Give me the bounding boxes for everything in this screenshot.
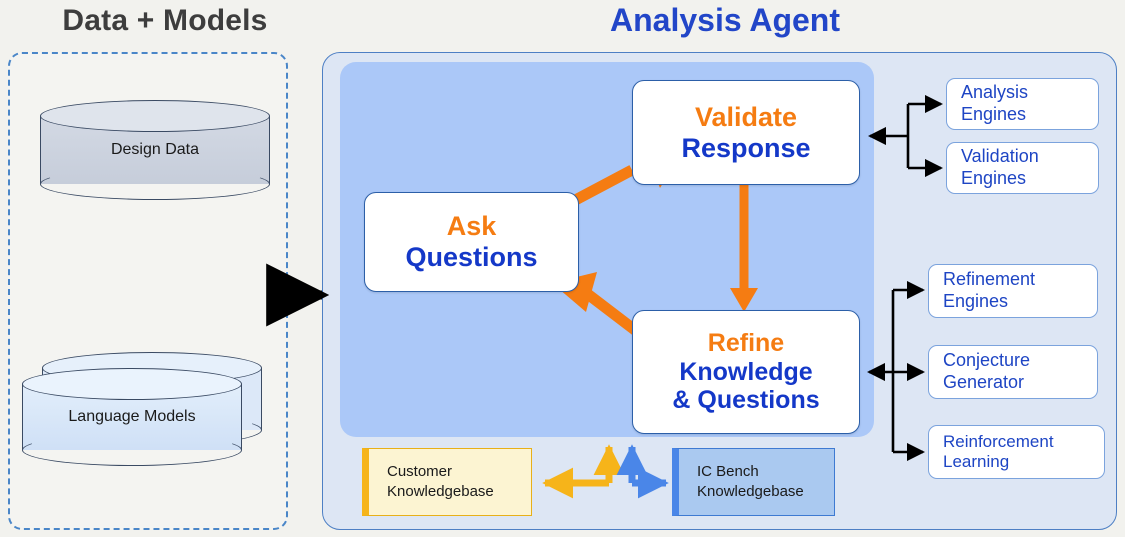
analysis-agent-title: Analysis Agent [330, 2, 1120, 39]
validation-engines-line1: Validation [961, 146, 1098, 168]
reinforcement-learning-line2: Learning [943, 452, 1104, 472]
icbench-knowledgebase-box[interactable]: IC Bench Knowledgebase [672, 448, 835, 516]
reinforcement-learning-box[interactable]: Reinforcement Learning [928, 425, 1105, 479]
cylinder-top [22, 368, 242, 400]
refine-line3: & Questions [672, 386, 819, 415]
language-models-cylinder: Language Models [22, 368, 242, 466]
conjecture-generator-line2: Generator [943, 372, 1097, 394]
customer-kb-line2: Knowledgebase [387, 482, 531, 502]
validation-engines-line2: Engines [961, 168, 1098, 190]
refine-line1: Refine [708, 329, 784, 358]
design-data-cylinder: Design Data [40, 100, 270, 200]
cylinder-bottom [22, 434, 242, 466]
diagram-canvas: Data + Models Design Data Language Model… [0, 0, 1125, 537]
language-models-label: Language Models [22, 408, 242, 426]
icbench-kb-line1: IC Bench [697, 462, 834, 482]
refine-line2: Knowledge [679, 358, 812, 387]
ask-questions-box[interactable]: Ask Questions [364, 192, 579, 292]
analysis-engines-line2: Engines [961, 104, 1098, 126]
ask-questions-line1: Ask [447, 211, 497, 242]
refinement-engines-line2: Engines [943, 291, 1097, 313]
refinement-engines-line1: Refinement [943, 269, 1097, 291]
icbench-kb-line2: Knowledgebase [697, 482, 834, 502]
cylinder-top [40, 100, 270, 132]
analysis-engines-line1: Analysis [961, 82, 1098, 104]
validate-response-box[interactable]: Validate Response [632, 80, 860, 185]
refinement-engines-box[interactable]: Refinement Engines [928, 264, 1098, 318]
validate-response-line2: Response [681, 133, 810, 164]
data-models-title: Data + Models [20, 4, 310, 38]
refine-knowledge-box[interactable]: Refine Knowledge & Questions [632, 310, 860, 434]
customer-kb-line1: Customer [387, 462, 531, 482]
validation-engines-box[interactable]: Validation Engines [946, 142, 1099, 194]
cylinder-bottom [40, 168, 270, 200]
design-data-label: Design Data [40, 141, 270, 159]
conjecture-generator-line1: Conjecture [943, 350, 1097, 372]
customer-knowledgebase-box[interactable]: Customer Knowledgebase [362, 448, 532, 516]
reinforcement-learning-line1: Reinforcement [943, 432, 1104, 452]
validate-response-line1: Validate [695, 102, 797, 133]
ask-questions-line2: Questions [405, 242, 537, 273]
conjecture-generator-box[interactable]: Conjecture Generator [928, 345, 1098, 399]
analysis-engines-box[interactable]: Analysis Engines [946, 78, 1099, 130]
